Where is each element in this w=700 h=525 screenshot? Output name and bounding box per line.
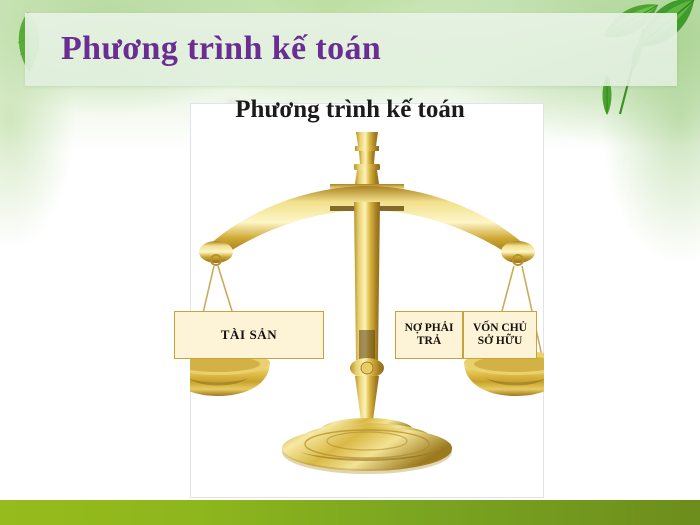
label-box-assets: TÀI SẢN: [174, 311, 324, 359]
page-title: Phương trình kế toán: [61, 30, 381, 68]
label-box-liabilities: NỢ PHẢI TRẢ: [395, 311, 463, 359]
label-line-1: VỐN CHỦ: [473, 322, 527, 334]
label-box-owners-equity-text: VỐN CHỦ SỞ HỮU: [473, 322, 527, 348]
footer-accent-bar: [0, 500, 700, 525]
label-line-2: SỞ HỮU: [478, 335, 523, 347]
label-box-owners-equity: VỐN CHỦ SỞ HỮU: [463, 311, 537, 359]
label-box-liabilities-text: NỢ PHẢI TRẢ: [405, 322, 454, 348]
title-panel: Phương trình kế toán: [25, 13, 677, 86]
slide: Phương trình kế toán Phương trình kế toá…: [0, 0, 700, 525]
label-line-1: NỢ PHẢI: [405, 322, 454, 334]
diagram-subtitle: Phương trình kế toán: [0, 96, 700, 124]
label-line-2: TRẢ: [417, 335, 441, 347]
balance-scale-icon: [190, 130, 544, 475]
